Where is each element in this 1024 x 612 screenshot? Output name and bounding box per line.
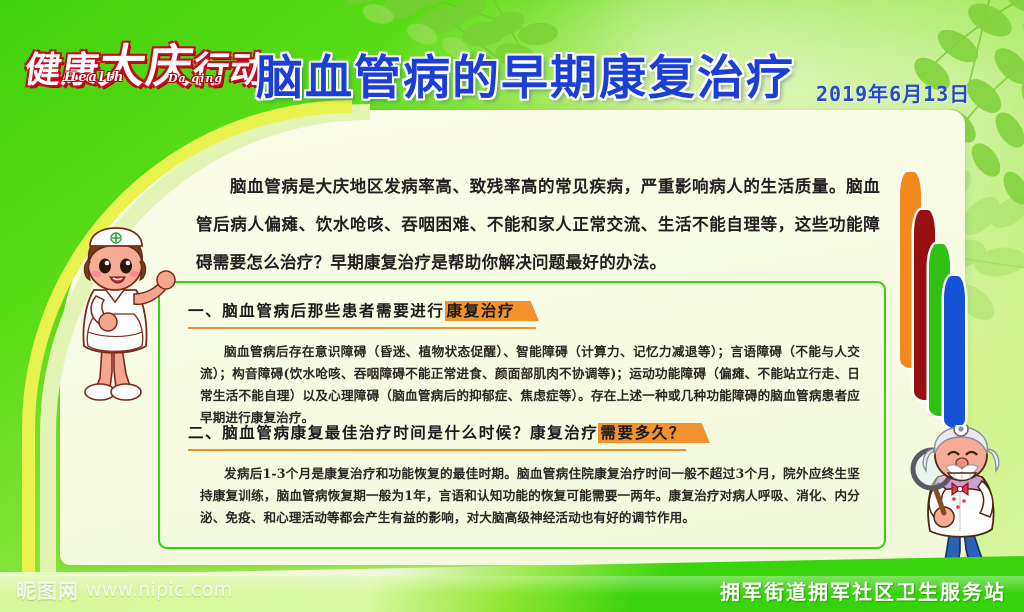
ribbon-decoration [900, 172, 980, 432]
publish-date: 2019年6月13日 [816, 78, 970, 107]
section-2-underline [188, 449, 686, 451]
section-2-heading-highlight: 需要多久？ [598, 423, 688, 443]
section-2-heading-text: 脑血管病康复最佳治疗时间是什么时候？康复治疗 [222, 424, 598, 442]
section-1: 一、脑血管病后那些患者需要进行康复治疗 脑血管病后存在意识障碍（昏迷、植物状态促… [188, 299, 860, 326]
brand-logo-chinese: 健康大庆行动 [21, 30, 272, 96]
site-watermark: 昵图网 www.nipic.com [16, 575, 233, 604]
section-1-heading: 一、脑血管病后那些患者需要进行康复治疗 [188, 299, 517, 326]
section-1-heading-text: 脑血管病后那些患者需要进行 [222, 302, 444, 320]
health-poster: 健康大庆行动 Health Da qing 脑血管病的早期康复治疗 2019年6… [0, 0, 1024, 612]
brand-logo: 健康大庆行动 Health Da qing [18, 28, 246, 94]
section-2-body: 发病后1-3个月是康复治疗和功能恢复的最佳时期。脑血管病住院康复治疗时间一般不超… [200, 463, 860, 529]
section-2-heading: 二、脑血管病康复最佳治疗时间是什么时候？康复治疗需要多久？ [188, 421, 688, 448]
section-1-body: 脑血管病后存在意识障碍（昏迷、植物状态促醒）、智能障碍（计算力、记忆力减退等）；… [200, 341, 860, 429]
page-title: 脑血管病的早期康复治疗 [256, 39, 795, 108]
ribbon-blue [944, 276, 965, 428]
section-1-underline [188, 327, 536, 329]
section-1-number: 一、 [188, 302, 222, 320]
site-watermark-logo: 昵图网 [16, 575, 79, 604]
intro-paragraph: 脑血管病是大庆地区发病率高、致残率高的常见疾病，严重影响病人的生活质量。脑血管后… [196, 168, 880, 282]
brand-logo-english-secondary: Da qing [168, 72, 223, 85]
brand-logo-english: Health [64, 70, 125, 85]
sections-container: 一、脑血管病后那些患者需要进行康复治疗 脑血管病后存在意识障碍（昏迷、植物状态促… [158, 281, 886, 549]
section-2: 二、脑血管病康复最佳治疗时间是什么时候？康复治疗需要多久？ 发病后1-3个月是康… [188, 421, 860, 448]
organization-name: 拥军街道拥军社区卫生服务站 [720, 576, 1006, 605]
section-1-heading-highlight: 康复治疗 [445, 301, 517, 321]
section-2-number: 二、 [188, 424, 222, 442]
site-watermark-url: www.nipic.com [86, 579, 233, 601]
